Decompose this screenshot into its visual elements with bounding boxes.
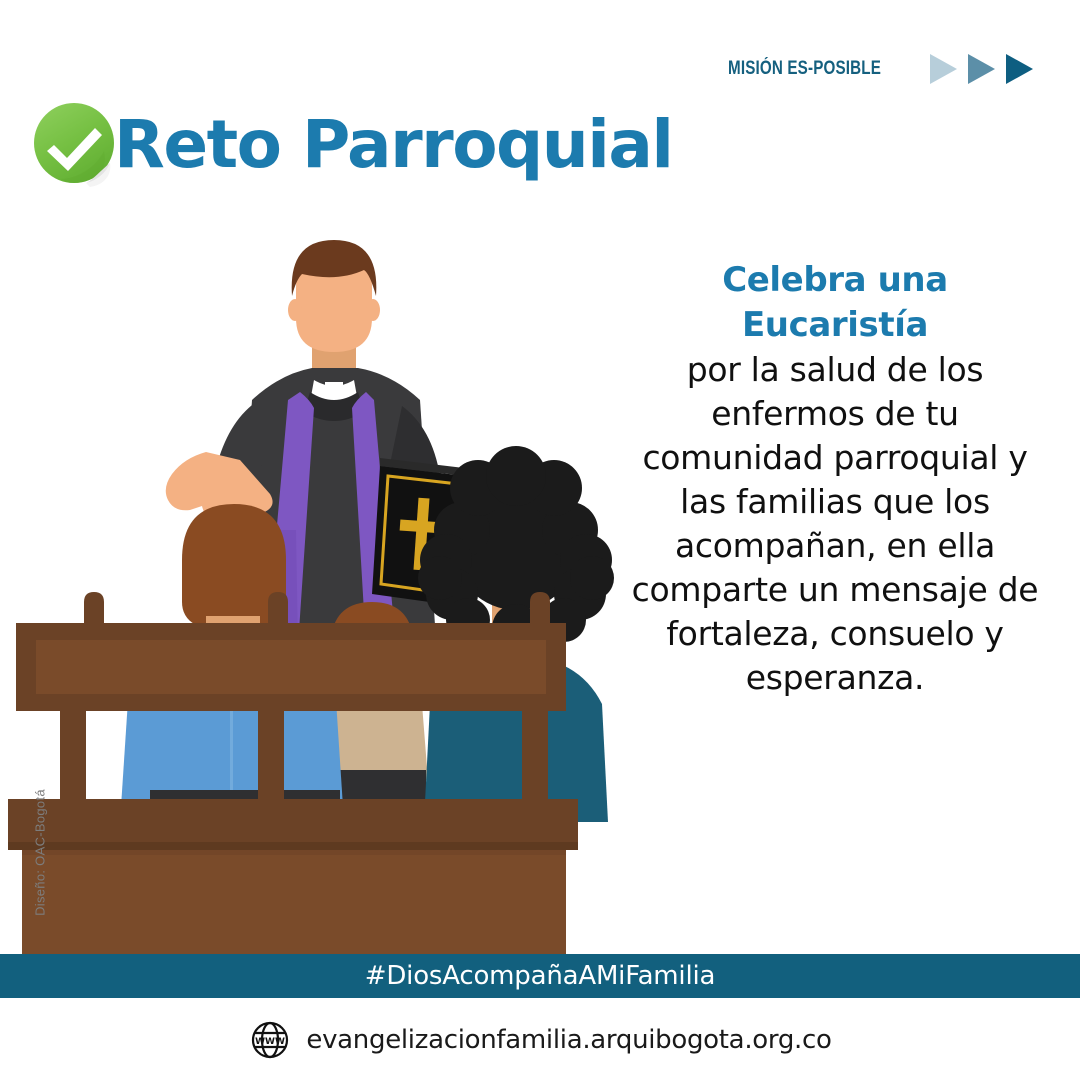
triangle-arrow-icon-1 [930, 54, 957, 84]
poster-canvas: MISIÓN ES-POSIBLE [0, 0, 1080, 1081]
message-copy: Celebra una Eucaristía por la salud de l… [625, 258, 1045, 699]
page-title: Reto Parroquial [114, 112, 673, 178]
green-check-sticker-icon [30, 101, 118, 189]
message-body: por la salud de los enfermos de tu comun… [625, 348, 1045, 699]
hashtag-bar: #DiosAcompañaAMiFamilia [0, 954, 1080, 998]
footer-url[interactable]: evangelizacionfamilia.arquibogota.org.co [306, 1025, 831, 1055]
triangle-arrow-icon-2 [968, 54, 995, 84]
designer-credit: Diseño: OAC-Bogotá [33, 783, 48, 923]
illustration-priest-congregation [0, 230, 660, 955]
brand-name-text: MISIÓN ES-POSIBLE [728, 58, 881, 80]
svg-text:WWW: WWW [255, 1037, 285, 1047]
message-lead: Celebra una Eucaristía [625, 258, 1045, 348]
footer: WWW evangelizacionfamilia.arquibogota.or… [0, 998, 1080, 1081]
hashtag-text: #DiosAcompañaAMiFamilia [365, 961, 715, 991]
page-title-row: Reto Parroquial [30, 101, 673, 189]
brand-lockup: MISIÓN ES-POSIBLE [728, 54, 1033, 84]
www-globe-icon: WWW [248, 1018, 292, 1062]
triangle-arrow-icon-3 [1006, 54, 1033, 84]
